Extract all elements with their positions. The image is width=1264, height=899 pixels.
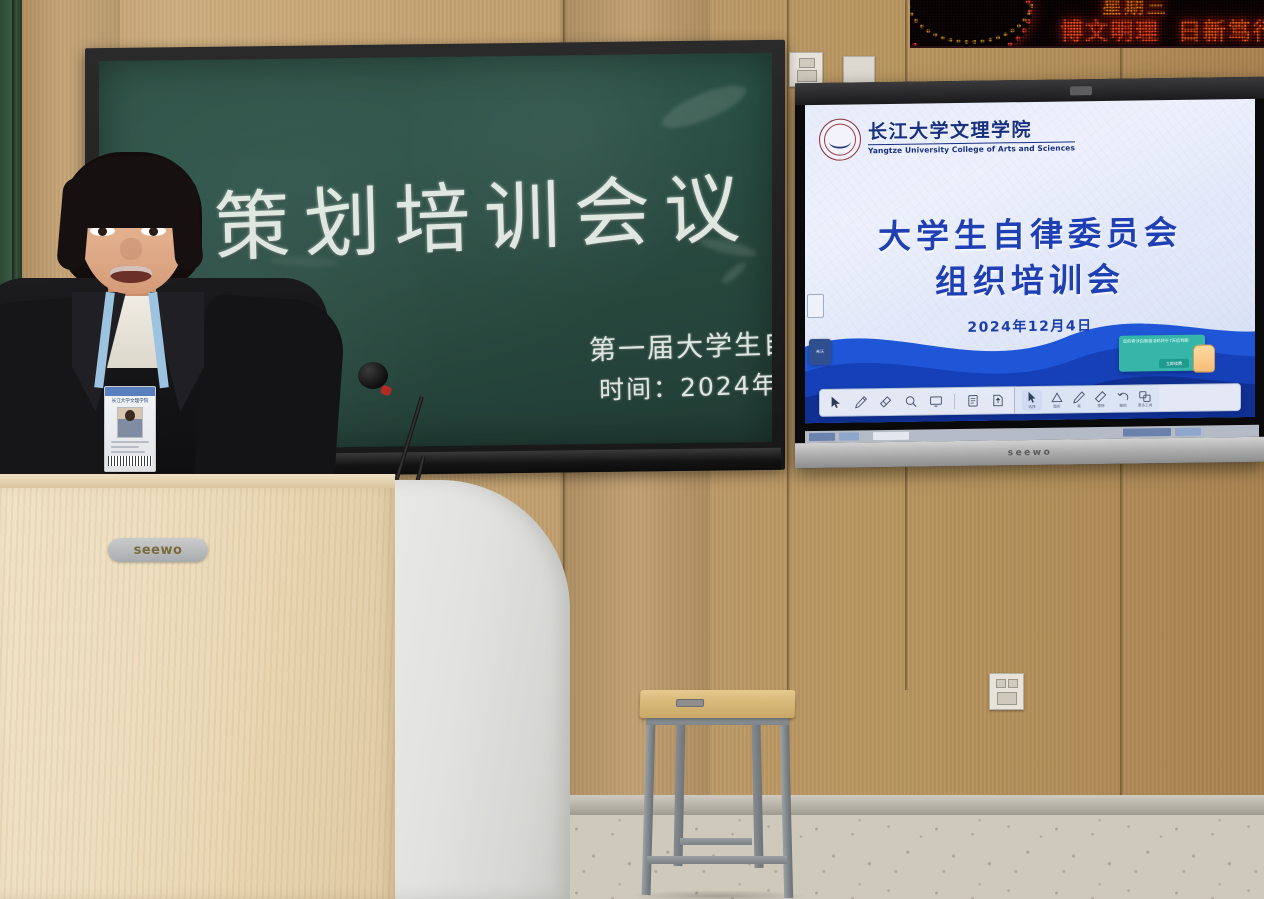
stool-seat — [640, 690, 796, 718]
toolbar-label-select: 选择 — [1028, 404, 1035, 409]
speaker: 长江大学文理学院 — [0, 150, 330, 490]
stool-rail-front — [647, 856, 787, 864]
side-dock-widget[interactable]: 希沃 — [809, 339, 831, 365]
display-brand-label: seewo — [1008, 447, 1053, 458]
more-icon[interactable] — [1138, 389, 1152, 403]
export-icon[interactable] — [991, 393, 1005, 407]
led-scrolling-sign: 星期三 博文明理 日新笃行 — [910, 0, 1264, 48]
badge-photo — [117, 407, 143, 438]
university-logo: 长江大学文理学院 Yangtze University College of A… — [819, 115, 1075, 161]
microphone-head — [358, 362, 388, 389]
chalkboard-subtitle-2: 时间：2024年12月4日 — [599, 361, 772, 407]
lectern-brand-badge: seewo — [108, 538, 208, 562]
taskbar-chip-5[interactable] — [1175, 428, 1201, 436]
lectern-side-panel — [385, 480, 570, 899]
stool-leg-front-right — [780, 720, 793, 898]
shape-icon[interactable] — [1050, 390, 1064, 404]
mouth — [110, 266, 152, 283]
screen-icon[interactable] — [929, 394, 943, 408]
toolbar-label-more: 更多工具 — [1138, 403, 1152, 408]
undo-icon[interactable] — [1116, 389, 1130, 403]
badge-barcode-icon — [108, 456, 152, 466]
toolbar-item-select[interactable]: 选择 — [1022, 389, 1042, 410]
lectern-brand-label: seewo — [134, 543, 183, 558]
badge-org-text: 长江大学文理学院 — [105, 398, 155, 404]
pen2-icon[interactable] — [1072, 390, 1086, 404]
jacket-shoulder-right — [193, 293, 346, 494]
pen-icon[interactable] — [854, 395, 868, 409]
led-motto-right: 日新笃行 — [1178, 12, 1264, 46]
stool-leg-back-right — [751, 716, 763, 868]
university-name-en: Yangtze University College of Arts and S… — [868, 141, 1075, 155]
wall-outlet-lower — [989, 673, 1024, 710]
taskbar-chip-1[interactable] — [809, 433, 835, 441]
badge-header — [105, 387, 155, 396]
nose — [120, 238, 142, 260]
lecture-hall-photo: 星期三 博文明理 日新笃行 策划培训会议 第一届大学生自律委员会 时间：2024… — [0, 0, 1264, 899]
interactive-flat-panel[interactable]: 长江大学文理学院 Yangtze University College of A… — [795, 77, 1264, 469]
taskbar-chip-4[interactable] — [1123, 428, 1171, 437]
toolbar-label-undo: 撤销 — [1119, 403, 1126, 408]
toolbar-item-shape[interactable]: 图形 — [1050, 390, 1064, 409]
taskbar-chip-3[interactable] — [873, 432, 909, 441]
stool-leg-front-left — [642, 720, 656, 895]
mascot-icon — [1193, 344, 1215, 372]
stool-rail-back — [680, 838, 752, 845]
side-dock-label: 希沃 — [816, 349, 824, 355]
university-name-cn: 长江大学文理学院 — [868, 120, 1075, 143]
magnifier-icon[interactable] — [904, 395, 918, 409]
lectern-top-edge — [0, 474, 395, 488]
wooden-stool — [635, 690, 800, 899]
chalkboard-subtitle-1: 第一届大学生自律委员会 — [589, 318, 772, 368]
slide-title-line2: 组织培训会 — [805, 251, 1255, 305]
stool-handle-icon — [676, 699, 704, 707]
toolbar-label-shape: 图形 — [1053, 404, 1060, 409]
toolbar-secondary-group[interactable]: 选择 图形 笔 — [1014, 385, 1159, 413]
stool-shadow — [629, 890, 809, 899]
eraser-icon[interactable] — [879, 395, 893, 409]
id-badge: 长江大学文理学院 — [104, 386, 156, 472]
toolbar-item-more[interactable]: 更多工具 — [1138, 389, 1152, 408]
camera-icon — [1070, 86, 1092, 95]
toolbar-label-pen: 笔 — [1077, 404, 1081, 409]
wall-outlet-upper — [789, 52, 823, 87]
toolbar-item-erase[interactable]: 擦除 — [1094, 389, 1108, 408]
university-seal-icon — [819, 118, 861, 161]
toolbar-label-erase: 擦除 — [1097, 403, 1104, 408]
page-icon[interactable] — [966, 394, 980, 408]
toolbar-item-undo[interactable]: 撤销 — [1116, 389, 1130, 408]
side-collapse-button[interactable] — [807, 294, 824, 318]
lectern — [0, 474, 570, 899]
toast-action-button[interactable]: 立即续费 — [1159, 359, 1189, 368]
whiteboard-toolbar[interactable]: 选择 图形 笔 — [819, 383, 1241, 417]
erase2-icon[interactable] — [1094, 389, 1108, 403]
select-icon[interactable] — [1025, 390, 1039, 404]
toolbar-item-pen[interactable]: 笔 — [1072, 390, 1086, 409]
cursor-icon[interactable] — [829, 396, 843, 410]
led-motto-left: 博文明理 — [1060, 12, 1160, 46]
toast-message: 您的希沃白板激活码将于7天后到期 — [1123, 338, 1201, 345]
taskbar-chip-2[interactable] — [839, 432, 859, 440]
display-screen[interactable]: 长江大学文理学院 Yangtze University College of A… — [805, 99, 1255, 423]
license-expiry-toast[interactable]: 您的希沃白板激活码将于7天后到期 立即续费 — [1119, 335, 1205, 372]
